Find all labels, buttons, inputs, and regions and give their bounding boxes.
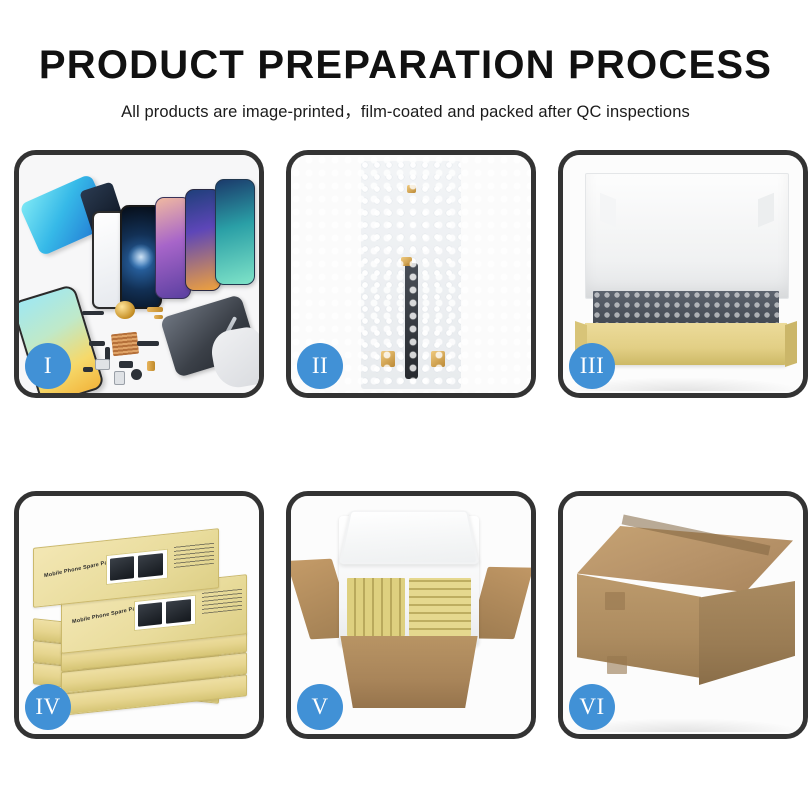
box-spec-text-1 — [174, 542, 214, 568]
box-window-2 — [134, 595, 196, 632]
step-panel-6: VI — [558, 491, 808, 739]
antenna-clip-part — [83, 367, 93, 372]
flex-cable-part — [89, 341, 105, 346]
earpiece-mesh-part — [82, 311, 104, 315]
gold-boxes-right-group — [409, 578, 471, 636]
copper-chip-grid — [111, 332, 139, 357]
step-badge-6: VI — [569, 684, 615, 730]
gold-box-stack: Mobile Phone Spare Parts Mobile Phone Sp… — [33, 522, 251, 718]
box-product-label-1: Mobile Phone Spare Parts — [44, 558, 116, 579]
step-badge-3: III — [569, 343, 615, 389]
screen-flex-cable — [405, 263, 418, 379]
box-window-1 — [106, 549, 168, 586]
white-box-lid — [585, 173, 789, 299]
carton-side-face — [699, 581, 795, 685]
phone-teal-display — [215, 179, 255, 285]
step-badge-1: I — [25, 343, 71, 389]
step-panel-3: III — [558, 150, 808, 398]
mid-gold-connector — [401, 257, 412, 266]
left-gold-connector — [381, 351, 395, 367]
step-badge-4: IV — [25, 684, 71, 730]
carton-label-lower — [607, 656, 627, 674]
step-panel-2: II — [286, 150, 536, 398]
step-panel-4: Mobile Phone Spare Parts Mobile Phone Sp… — [14, 491, 264, 739]
sim-tray-part — [114, 371, 125, 385]
carton-label-upper — [605, 592, 625, 610]
step-badge-2: II — [297, 343, 343, 389]
gold-box-base — [585, 323, 787, 365]
header: PRODUCT PREPARATION PROCESS All products… — [0, 0, 811, 122]
box-product-label-2: Mobile Phone Spare Parts — [72, 604, 144, 625]
camera-module-part — [95, 359, 110, 370]
lid-right-flap — [758, 193, 774, 227]
page-title: PRODUCT PREPARATION PROCESS — [0, 44, 811, 86]
page-subtitle: All products are image-printed，film-coat… — [0, 98, 811, 122]
top-gold-connector — [407, 185, 416, 193]
gold-flex-part — [147, 307, 163, 312]
infographic-page: PRODUCT PREPARATION PROCESS All products… — [0, 0, 811, 811]
gold-speaker-component — [115, 301, 135, 319]
step-badge-5: V — [297, 684, 343, 730]
round-button-part — [131, 369, 142, 380]
bubble-wrapped-contents — [593, 291, 779, 327]
gold-connector-part — [154, 315, 163, 319]
carton-front-face — [577, 574, 701, 678]
right-gold-connector — [431, 351, 445, 367]
gold-pin-part — [147, 361, 155, 371]
ribbon-cable-part — [137, 341, 159, 346]
box-spec-text-2 — [202, 588, 242, 614]
foam-box-lid — [339, 510, 479, 564]
vibrator-motor-part — [119, 361, 133, 368]
lid-left-flap — [600, 193, 616, 227]
step-panel-1: I — [14, 150, 264, 398]
step-panel-5: V — [286, 491, 536, 739]
carton-body — [331, 636, 487, 708]
gold-boxes-left-group — [347, 578, 405, 636]
process-steps-grid: I II — [14, 150, 797, 739]
